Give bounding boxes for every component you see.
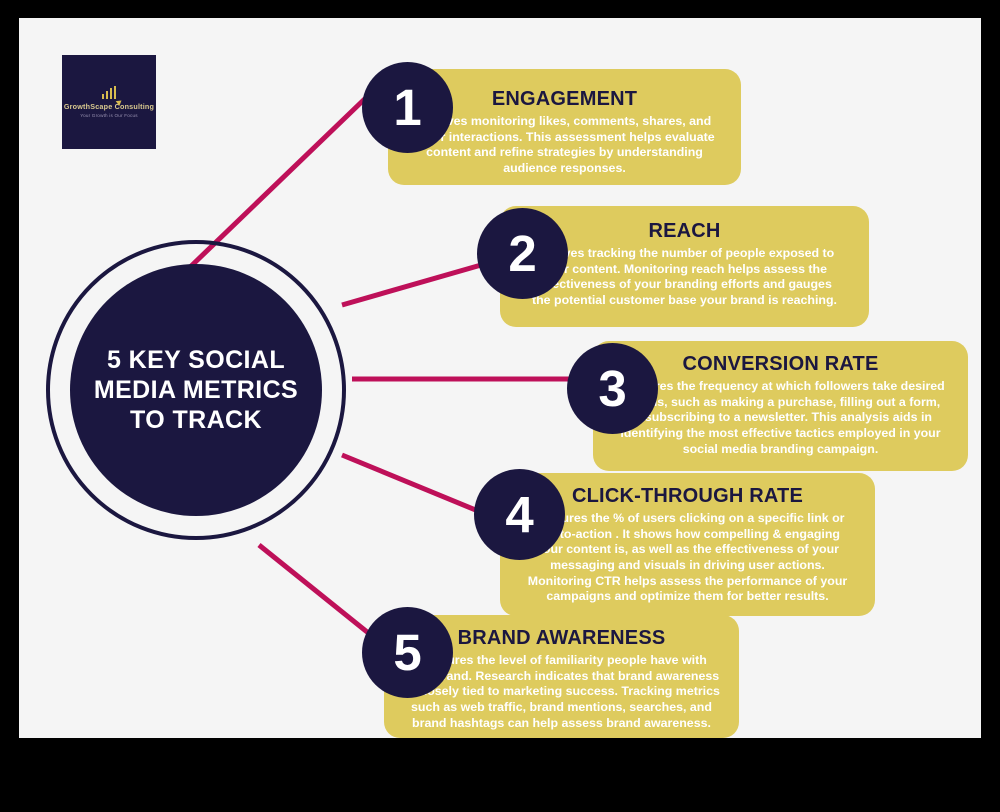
step-3-number-badge[interactable]: 3: [567, 343, 658, 434]
step-3-body: Measures the frequency at which follower…: [609, 379, 952, 457]
logo-company-name: GrowthScape Consulting: [64, 102, 154, 111]
step-1-body: Involves monitoring likes, comments, sha…: [404, 114, 725, 177]
step-4-title: CLICK-THROUGH RATE: [516, 485, 859, 508]
step-3-title: CONVERSION RATE: [609, 353, 952, 376]
connector-line-4: [342, 455, 495, 518]
company-logo: GrowthScape Consulting Your Growth is Ou…: [62, 55, 156, 149]
infographic-canvas: GrowthScape Consulting Your Growth is Ou…: [19, 18, 981, 738]
step-2-number-badge[interactable]: 2: [477, 208, 568, 299]
hub-title: 5 KEY SOCIAL MEDIA METRICS TO TRACK: [70, 345, 322, 435]
central-hub: 5 KEY SOCIAL MEDIA METRICS TO TRACK: [46, 240, 346, 540]
hub-core: 5 KEY SOCIAL MEDIA METRICS TO TRACK: [70, 264, 322, 516]
step-4-number-badge[interactable]: 4: [474, 469, 565, 560]
infographic-frame: GrowthScape Consulting Your Growth is Ou…: [0, 0, 1000, 812]
step-2-title: REACH: [516, 220, 853, 243]
bar-chart-growth-icon: [102, 86, 117, 99]
step-4-body: Measures the % of users clicking on a sp…: [516, 511, 859, 605]
step-5-number-badge[interactable]: 5: [362, 607, 453, 698]
logo-tagline: Your Growth is Our Focus: [80, 113, 137, 118]
step-1-number-badge[interactable]: 1: [362, 62, 453, 153]
